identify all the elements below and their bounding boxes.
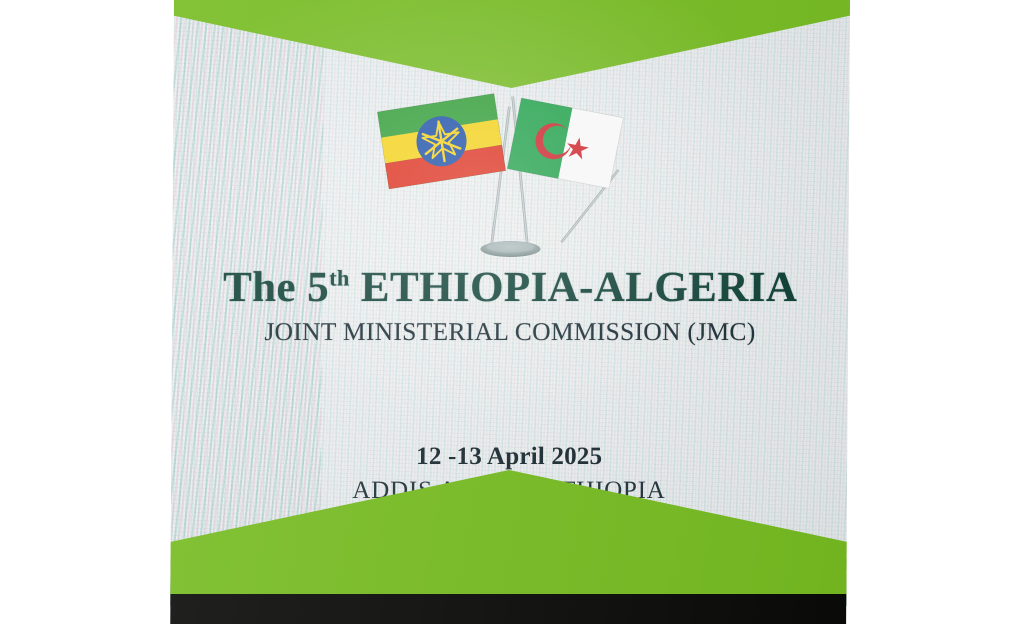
desk-flags-illustration: [360, 78, 661, 268]
event-date: 12 -13 April 2025: [171, 443, 847, 471]
title-prefix: The 5: [223, 264, 329, 311]
slide-text-block: The 5th ETHIOPIA-ALGERIA JOINT MINISTERI…: [171, 265, 848, 505]
title-main: ETHIOPIA-ALGERIA: [350, 264, 798, 311]
flag-stand-base: [480, 241, 540, 257]
algeria-flag: [507, 98, 623, 189]
slide-subtitle: JOINT MINISTERIAL COMMISSION (JMC): [172, 317, 848, 347]
ethiopia-flag: [377, 94, 505, 189]
presentation-slide: The 5th ETHIOPIA-ALGERIA JOINT MINISTERI…: [170, 0, 850, 624]
slide-bottom-black-band: [170, 594, 846, 624]
flag-group: [172, 78, 849, 268]
slide-title: The 5th ETHIOPIA-ALGERIA: [172, 265, 848, 310]
title-ordinal-suffix: th: [329, 266, 350, 291]
photo-frame: The 5th ETHIOPIA-ALGERIA JOINT MINISTERI…: [0, 0, 1024, 624]
